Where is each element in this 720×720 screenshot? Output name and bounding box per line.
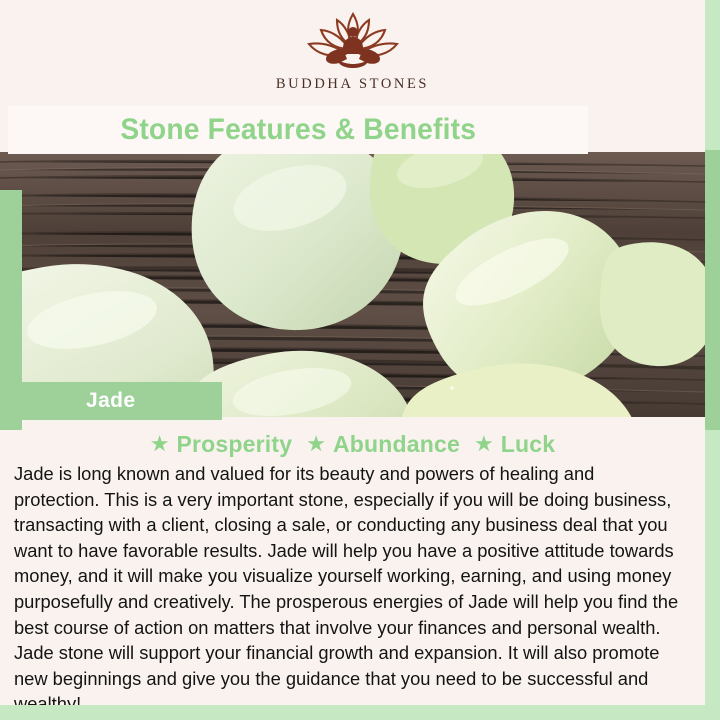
page-title: Stone Features & Benefits [120, 113, 476, 147]
accent-bar-left [0, 190, 22, 430]
star-icon: ★ [150, 433, 170, 455]
title-banner: Stone Features & Benefits [8, 106, 588, 154]
content-area: ★ Prosperity ★ Abundance ★ Luck Jade is … [0, 417, 705, 705]
stone-name-band: Jade [22, 382, 222, 420]
benefit-item: ★ Luck [474, 431, 555, 458]
benefit-label: Prosperity [176, 431, 292, 458]
stone-description: Jade is long known and valued for its be… [14, 461, 681, 717]
brand-name: BUDDHA STONES [276, 76, 429, 93]
benefit-label: Luck [501, 431, 555, 458]
stone-name-label: Jade [86, 389, 135, 413]
infographic-page: BUDDHA STONES Stone Features & Benefits [0, 0, 720, 720]
star-icon: ★ [306, 433, 326, 455]
benefit-item: ★ Abundance [306, 431, 460, 458]
lotus-meditation-icon [293, 8, 413, 74]
benefit-label: Abundance [333, 431, 460, 458]
star-icon: ★ [474, 433, 494, 455]
benefits-row: ★ Prosperity ★ Abundance ★ Luck [0, 417, 705, 455]
brand-header: BUDDHA STONES [0, 0, 705, 112]
accent-bar-bottom [0, 705, 720, 720]
benefit-item: ★ Prosperity [150, 431, 293, 458]
accent-bar-right [705, 150, 720, 430]
jade-stones-photo [0, 152, 705, 417]
